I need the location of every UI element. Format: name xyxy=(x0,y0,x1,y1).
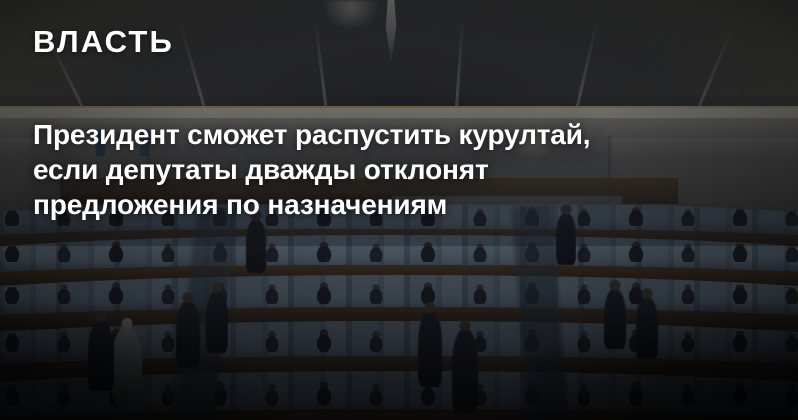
news-share-card: ВЛАСТЬ Президент сможет распустить курул… xyxy=(0,0,798,420)
article-headline: Президент сможет распустить курултай, ес… xyxy=(33,117,758,222)
brand-logo[interactable]: ВЛАСТЬ xyxy=(33,26,174,57)
